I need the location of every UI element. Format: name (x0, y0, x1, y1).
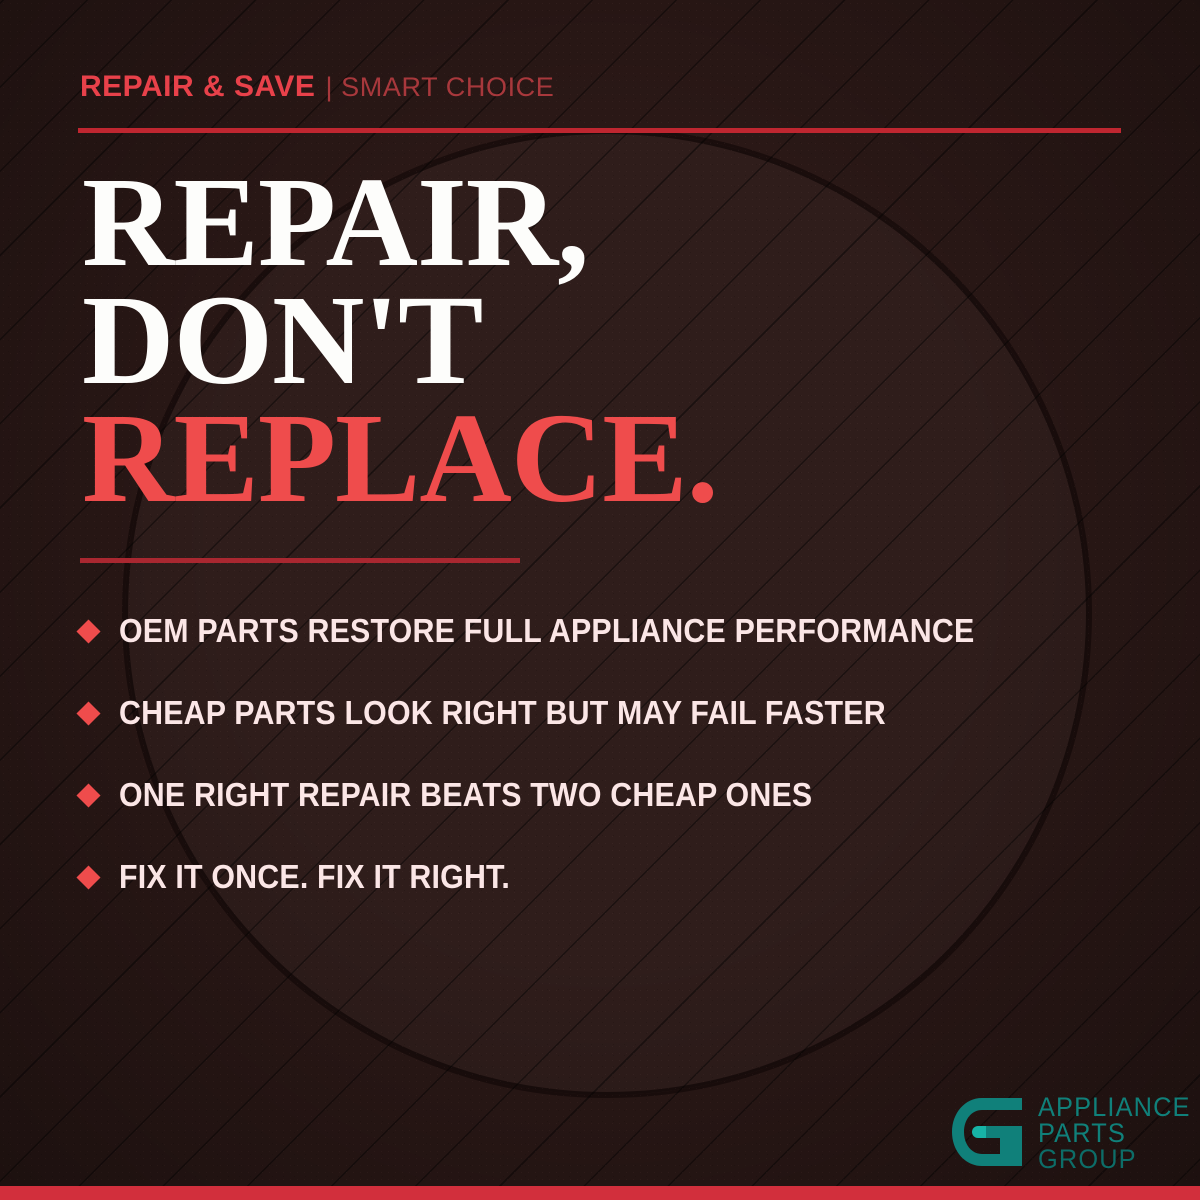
list-item: ONE RIGHT REPAIR BEATS TWO CHEAP ONES (80, 754, 1160, 836)
headline-line-1: REPAIR, (82, 164, 718, 282)
diamond-bullet-icon (76, 701, 100, 725)
page-title: REPAIR, DON'T REPLACE. (82, 164, 718, 517)
brand-word-parts: PARTS (1038, 1120, 1191, 1146)
headline-line-2: DON'T (82, 282, 718, 400)
list-item-label: OEM PARTS RESTORE FULL APPLIANCE PERFORM… (119, 612, 974, 650)
headline-divider (80, 558, 520, 563)
header-divider (78, 128, 1121, 133)
list-item: FIX IT ONCE. FIX IT RIGHT. (80, 836, 1160, 918)
list-item-label: CHEAP PARTS LOOK RIGHT BUT MAY FAIL FAST… (119, 694, 886, 732)
poster-content: REPAIR & SAVE| SMART CHOICE REPAIR, DON'… (0, 0, 1200, 1200)
promo-poster: REPAIR & SAVE| SMART CHOICE REPAIR, DON'… (0, 0, 1200, 1200)
footer-accent-bar (0, 1186, 1200, 1200)
list-item-label: ONE RIGHT REPAIR BEATS TWO CHEAP ONES (119, 776, 812, 814)
list-item-label: FIX IT ONCE. FIX IT RIGHT. (119, 858, 510, 896)
diamond-bullet-icon (76, 865, 100, 889)
eyebrow: REPAIR & SAVE| SMART CHOICE (80, 72, 554, 102)
eyebrow-main-label: REPAIR & SAVE (80, 70, 315, 103)
diamond-bullet-icon (76, 783, 100, 807)
benefits-list: OEM PARTS RESTORE FULL APPLIANCE PERFORM… (80, 590, 1160, 918)
brand-word-group: GROUP (1038, 1146, 1191, 1172)
list-item: CHEAP PARTS LOOK RIGHT BUT MAY FAIL FAST… (80, 672, 1160, 754)
diamond-bullet-icon (76, 619, 100, 643)
brand-wordmark: APPLIANCE PARTS GROUP (1038, 1092, 1191, 1173)
eyebrow-sub-label: | SMART CHOICE (325, 72, 554, 102)
brand-word-appliance: APPLIANCE (1038, 1094, 1191, 1120)
g-monogram-icon (952, 1092, 1026, 1172)
brand-logo: APPLIANCE PARTS GROUP (952, 1092, 1200, 1173)
list-item: OEM PARTS RESTORE FULL APPLIANCE PERFORM… (80, 590, 1160, 672)
headline-line-3: REPLACE. (82, 400, 718, 518)
